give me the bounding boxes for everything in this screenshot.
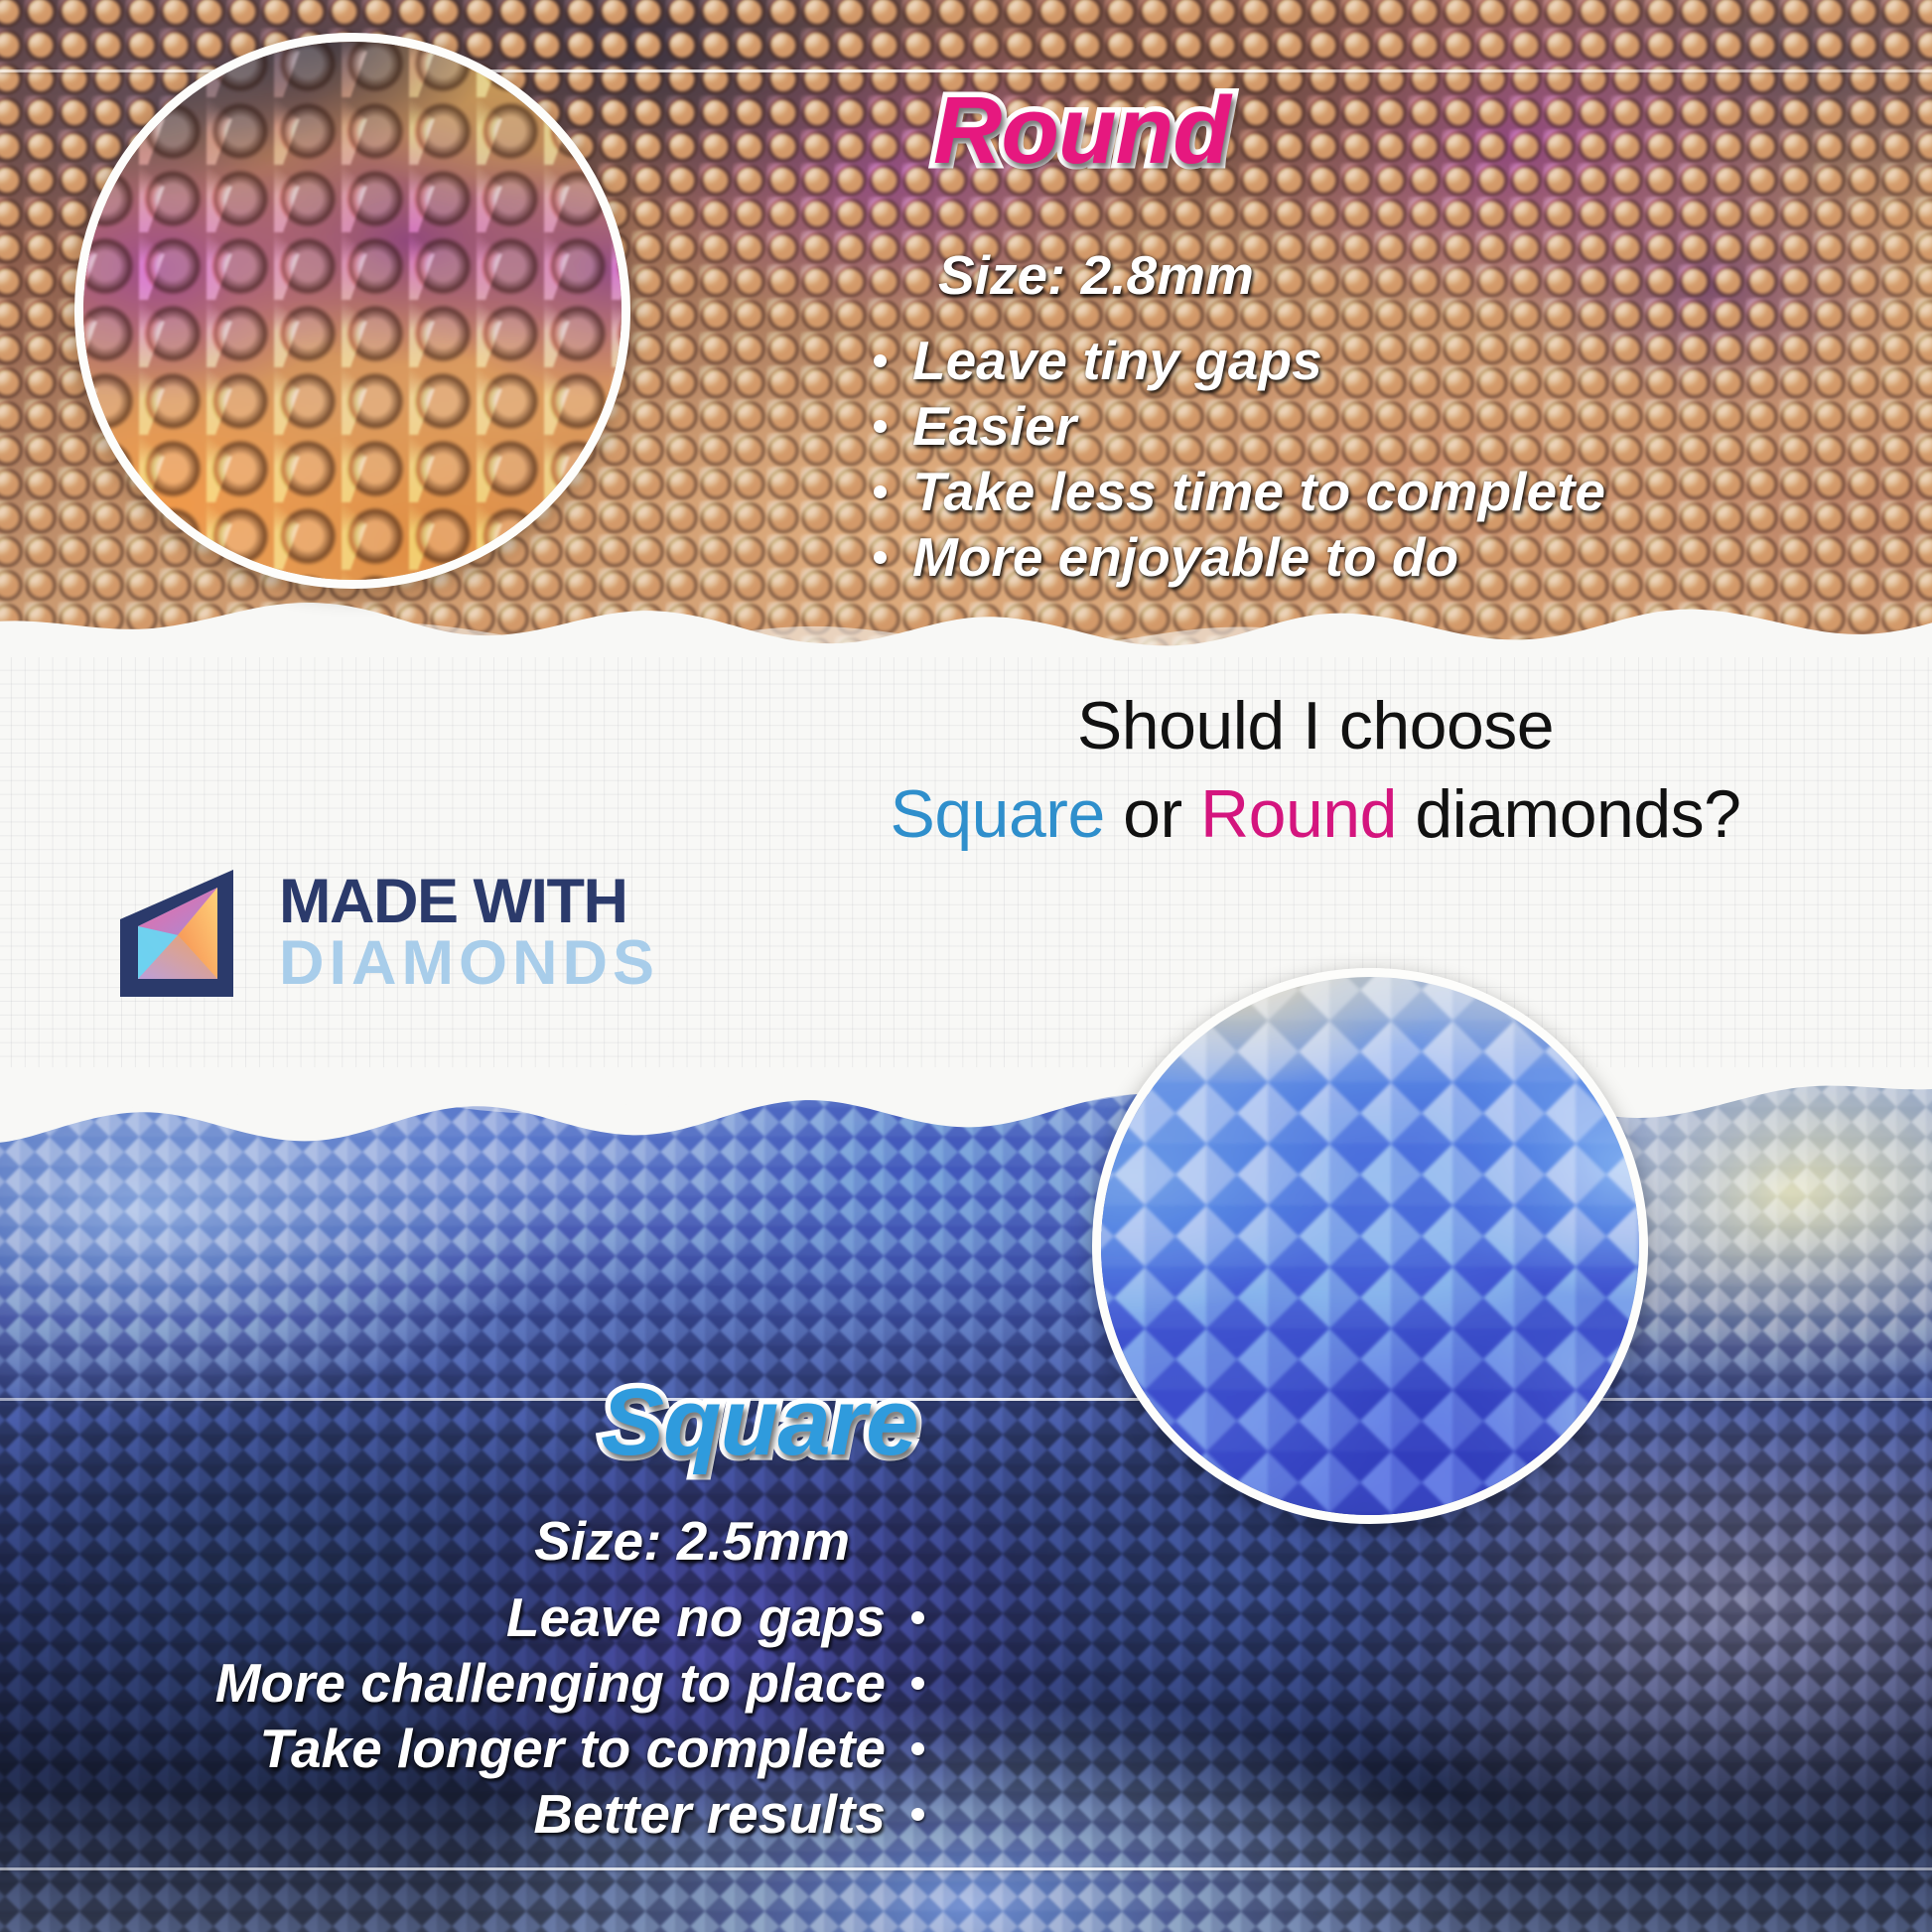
headline-question: Should I choose Square or Round diamonds… — [755, 683, 1876, 860]
headline-conjunction: or — [1105, 776, 1200, 852]
square-benefits-list: Leave no gaps More challenging to place … — [215, 1585, 924, 1847]
list-item-label: Better results — [533, 1781, 886, 1847]
brand-wordmark: MADE WITH DIAMONDS — [279, 872, 659, 994]
round-benefits-list: Leave tiny gaps Easier Take less time to… — [874, 328, 1605, 590]
headline-round-word: Round — [1200, 776, 1397, 852]
square-band-lower-sheen — [0, 1867, 1932, 1870]
bullet-dot-icon — [874, 551, 887, 564]
list-item-label: More challenging to place — [215, 1650, 886, 1716]
list-item-label: Take longer to complete — [259, 1716, 886, 1781]
bullet-dot-icon — [911, 1677, 924, 1690]
brand-line-2: DIAMONDS — [279, 933, 659, 995]
square-title: Square — [601, 1375, 917, 1470]
list-item-label: Easier — [912, 393, 1076, 459]
list-item: More challenging to place — [215, 1650, 924, 1716]
bullet-dot-icon — [874, 354, 887, 367]
headline-square-word: Square — [891, 776, 1105, 852]
bullet-dot-icon — [911, 1742, 924, 1755]
list-item: Easier — [874, 393, 1605, 459]
list-item-label: Leave no gaps — [506, 1585, 886, 1650]
headline-trailing: diamonds? — [1397, 776, 1741, 852]
list-item: Take less time to complete — [874, 459, 1605, 524]
round-magnified-drills — [74, 33, 630, 589]
list-item: Take longer to complete — [215, 1716, 924, 1781]
round-magnifier-circle — [74, 33, 630, 589]
list-item: Leave no gaps — [215, 1585, 924, 1650]
round-size-line: Size: 2.8mm — [938, 248, 1254, 303]
list-item-label: Take less time to complete — [912, 459, 1605, 524]
centre-band: Should I choose Square or Round diamonds… — [0, 655, 1932, 1070]
square-size-line: Size: 2.5mm — [534, 1514, 850, 1569]
infographic-canvas: Round Size: 2.8mm Leave tiny gaps Easier… — [0, 0, 1932, 1932]
list-item-label: Leave tiny gaps — [912, 328, 1322, 393]
diamond-logo-icon — [114, 864, 253, 1003]
bullet-dot-icon — [911, 1808, 924, 1821]
brand-line-1: MADE WITH — [279, 872, 659, 933]
list-item-label: More enjoyable to do — [912, 524, 1458, 590]
brand-logo: MADE WITH DIAMONDS — [114, 864, 659, 1003]
round-title: Round — [933, 83, 1230, 179]
bullet-dot-icon — [911, 1611, 924, 1624]
list-item: Better results — [215, 1781, 924, 1847]
list-item: Leave tiny gaps — [874, 328, 1605, 393]
headline-line-1: Should I choose — [755, 683, 1876, 768]
bullet-dot-icon — [874, 420, 887, 433]
square-band-mid-sheen — [0, 1398, 1932, 1401]
headline-line-2: Square or Round diamonds? — [755, 768, 1876, 860]
list-item: More enjoyable to do — [874, 524, 1605, 590]
bullet-dot-icon — [874, 485, 887, 498]
